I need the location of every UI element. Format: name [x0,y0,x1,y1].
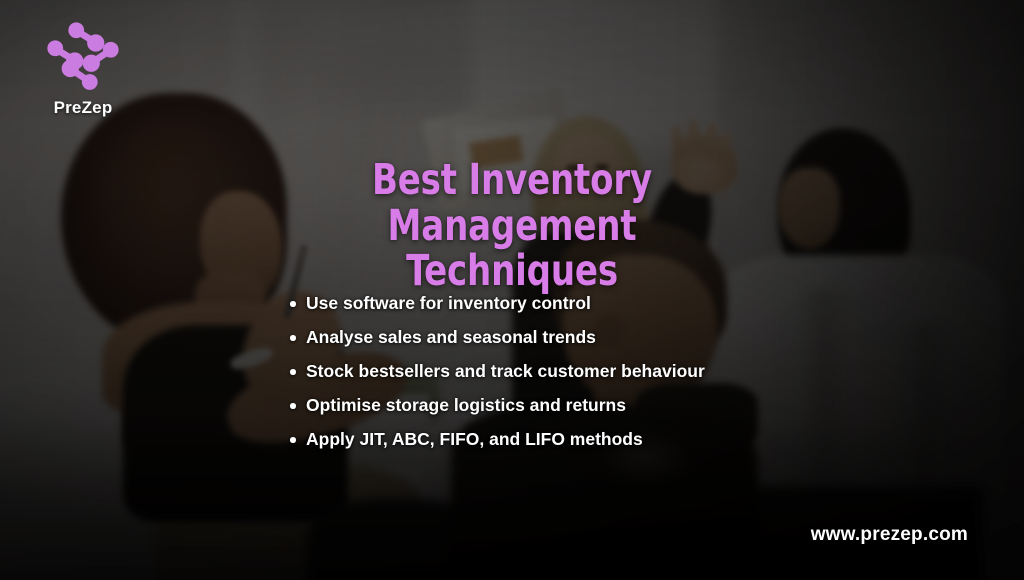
list-item-label: Optimise storage logistics and returns [306,395,626,415]
promo-poster: PreZep Best Inventory ManagementTechniqu… [0,0,1024,580]
headline-line-2: Techniques [406,246,618,296]
list-item: Analyse sales and seasonal trends [290,329,705,347]
list-item-label: Stock bestsellers and track customer beh… [306,361,705,381]
headline-line-1: Best Inventory Management [372,155,652,251]
page-title: Best Inventory ManagementTechniques [257,158,767,295]
website-url[interactable]: www.prezep.com [811,524,968,546]
list-item-label: Analyse sales and seasonal trends [306,327,596,347]
techniques-list: Use software for inventory control Analy… [266,295,705,465]
headline-block: Best Inventory ManagementTechniques [222,158,802,295]
list-item: Apply JIT, ABC, FIFO, and LIFO methods [290,431,705,449]
brand-name: PreZep [33,98,133,118]
brand-logo-lockup[interactable]: PreZep [33,22,133,118]
poster-content: PreZep Best Inventory ManagementTechniqu… [0,0,1024,580]
list-item-label: Use software for inventory control [306,293,591,313]
list-item: Stock bestsellers and track customer beh… [290,363,705,381]
list-item: Optimise storage logistics and returns [290,397,705,415]
list-item: Use software for inventory control [290,295,705,313]
prezep-molecule-logo-icon [45,22,121,94]
list-item-label: Apply JIT, ABC, FIFO, and LIFO methods [306,429,643,449]
